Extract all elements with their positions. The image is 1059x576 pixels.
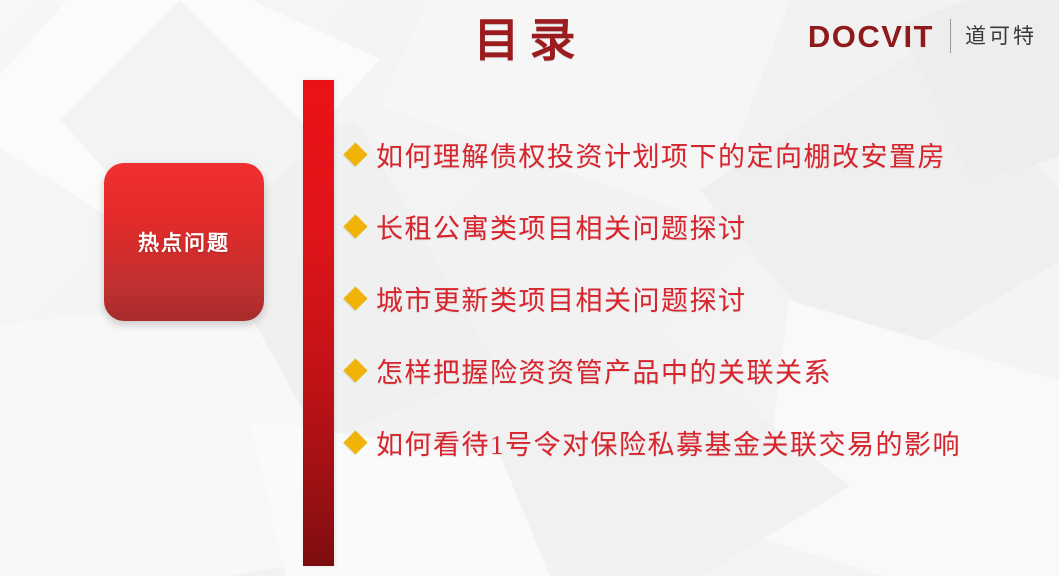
diamond-bullet-icon	[343, 358, 367, 382]
presentation-slide: 目录 DOCVIT 道可特 热点问题 如何理解债权投资计划项下的定向棚改安置房 …	[0, 0, 1059, 576]
diamond-bullet-icon	[343, 286, 367, 310]
diamond-bullet-icon	[343, 430, 367, 454]
agenda-item-label: 怎样把握险资资管产品中的关联关系	[376, 351, 832, 390]
topic-card-label: 热点问题	[138, 227, 230, 257]
logo-divider	[950, 19, 951, 53]
topic-card: 热点问题	[104, 163, 264, 321]
diamond-bullet-icon	[343, 214, 367, 238]
agenda-list: 如何理解债权投资计划项下的定向棚改安置房 长租公寓类项目相关问题探讨 城市更新类…	[347, 118, 1037, 478]
list-item[interactable]: 城市更新类项目相关问题探讨	[347, 262, 1037, 334]
logo-chinese-name: 道可特	[965, 26, 1037, 47]
list-item[interactable]: 如何理解债权投资计划项下的定向棚改安置房	[347, 118, 1037, 190]
agenda-item-label: 城市更新类项目相关问题探讨	[376, 279, 747, 318]
agenda-item-label: 长租公寓类项目相关问题探讨	[376, 207, 747, 246]
company-logo: DOCVIT 道可特	[808, 16, 1037, 56]
list-item[interactable]: 怎样把握险资资管产品中的关联关系	[347, 334, 1037, 406]
agenda-item-label: 如何理解债权投资计划项下的定向棚改安置房	[376, 135, 946, 174]
list-item[interactable]: 如何看待1号令对保险私募基金关联交易的影响	[347, 406, 1037, 478]
diamond-bullet-icon	[343, 142, 367, 166]
agenda-item-label: 如何看待1号令对保险私募基金关联交易的影响	[376, 423, 961, 462]
list-item[interactable]: 长租公寓类项目相关问题探讨	[347, 190, 1037, 262]
vertical-accent-bar	[303, 80, 334, 566]
logo-wordmark: DOCVIT	[808, 21, 934, 52]
